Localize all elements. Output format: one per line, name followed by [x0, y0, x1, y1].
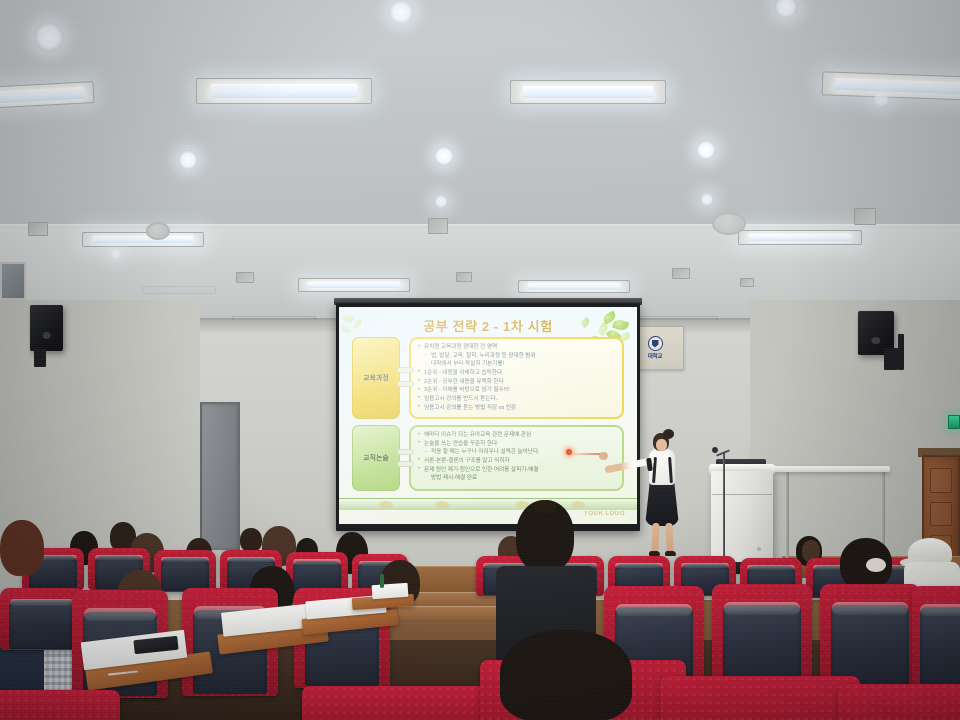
slide-footer-logo: YOUR LOGO — [584, 511, 625, 517]
speaker-bracket-right — [898, 334, 904, 370]
ceiling-downlight — [434, 146, 454, 166]
wall-speaker-left — [30, 305, 63, 351]
ceiling-light-troffer — [82, 232, 204, 247]
section-connector-icon — [400, 425, 409, 491]
seat-gloss — [293, 559, 340, 564]
ceiling-vent — [456, 272, 472, 282]
section-content-box: 해마다 이슈가 되는 유아교육 관련 문제에 관심 논술을 쓰는 연습을 꾸준히… — [409, 425, 624, 491]
ceiling-vent — [428, 218, 448, 234]
university-emblem-icon — [648, 336, 663, 351]
seat-gloss — [920, 604, 960, 616]
presenter-leg — [665, 523, 674, 553]
microphone-stand-pole — [723, 452, 725, 572]
slide-title: 공부 전략 2 - 1차 시험 — [339, 316, 637, 335]
ceiling-light-troffer — [142, 286, 216, 294]
podium-knob — [757, 547, 761, 551]
seat-gloss — [227, 557, 274, 562]
ceiling-light-troffer — [298, 278, 410, 292]
ceiling-upper — [0, 0, 960, 232]
ceiling-downlight — [388, 0, 414, 24]
seat-gloss — [10, 599, 74, 606]
presenter-shoe — [665, 551, 676, 556]
seat-gloss — [724, 602, 800, 615]
bullet-item: 법, 발달, 교육, 철학, 누리과정 등 광대한 범위 — [418, 352, 617, 361]
ceiling-downlight — [34, 22, 64, 52]
seat-gloss — [832, 602, 908, 615]
door-left[interactable] — [200, 402, 240, 550]
ceiling-downlight — [700, 193, 714, 206]
seat-gloss — [95, 555, 142, 560]
presenter-hair-bun — [663, 429, 674, 439]
ceiling-light-troffer — [510, 80, 666, 104]
ceiling-downlight — [696, 140, 716, 160]
paper-on-desk[interactable] — [372, 583, 409, 599]
ceiling-vent — [672, 268, 690, 279]
ceiling-light-troffer — [196, 78, 372, 104]
bullet-list: 유치원 교육과정 광대한 전 영역 법, 발달, 교육, 철학, 누리과정 등 … — [418, 343, 617, 412]
presenter-skirt — [645, 482, 679, 526]
section-tab-label: 교직논술 — [352, 425, 400, 491]
attendee-hair-tie — [866, 558, 886, 572]
presentation-slide: 공부 전략 2 - 1차 시험 교육과정 유치원 교육과정 광대한 전 영역 법… — [339, 307, 637, 524]
presenter-face — [656, 439, 667, 451]
attendee-head — [0, 520, 44, 576]
seat-gloss — [161, 557, 208, 562]
attendee-head — [500, 630, 632, 720]
attendee-head — [240, 528, 262, 552]
seat-backrest-panel — [920, 607, 960, 688]
exit-sign — [948, 415, 960, 429]
podium-panel-seam — [712, 494, 772, 495]
bullet-item: 대학에서 부터 착실히 기본기를! — [418, 360, 617, 369]
bullet-item: 논술을 쓰는 연습을 꾸준히 한다 — [418, 440, 617, 449]
auditorium-seat-cushion[interactable] — [660, 676, 860, 720]
slide-section-curriculum: 교육과정 유치원 교육과정 광대한 전 영역 법, 발달, 교육, 철학, 누리… — [352, 337, 624, 419]
seat-gloss — [747, 565, 794, 570]
grass-blob-decoration — [435, 501, 449, 508]
ceiling-downlight — [434, 195, 448, 208]
bullet-list: 해마다 이슈가 되는 유아교육 관련 문제에 관심 논술을 쓰는 연습을 꾸준히… — [418, 431, 617, 483]
seat-backrest-panel — [161, 558, 209, 591]
ceiling-vent — [28, 222, 48, 236]
attendee-hair-tie — [534, 500, 556, 514]
banner-label: 대학교 — [648, 352, 663, 360]
seat-backrest-panel — [9, 600, 75, 648]
grass-blob-decoration — [571, 501, 585, 508]
section-content-box: 유치원 교육과정 광대한 전 영역 법, 발달, 교육, 철학, 누리과정 등 … — [409, 337, 624, 419]
podium — [711, 471, 773, 568]
bullet-item: 1순위 - 내용을 이해하고 습득한다. — [418, 369, 617, 378]
bullet-item: 해마다 이슈가 되는 유아교육 관련 문제에 관심 — [418, 431, 617, 440]
side-table-leg — [786, 472, 789, 560]
lecture-hall-photo: 대학교 공부 전략 2 - 1차 시험 교육과정 — [0, 0, 960, 720]
auditorium-seat-cushion[interactable] — [838, 684, 960, 720]
bullet-item: 2순위 - 공부한 내용을 유목화 한다 — [418, 378, 617, 387]
auditorium-seat-cushion[interactable] — [0, 690, 120, 720]
ceiling-vent — [236, 272, 254, 283]
ceiling-light-troffer — [518, 280, 630, 293]
ceiling-downlight — [872, 90, 890, 107]
section-tab-label: 교육과정 — [352, 337, 400, 419]
auditorium-seat[interactable] — [912, 586, 960, 690]
side-table — [772, 466, 890, 472]
presenter — [630, 427, 702, 562]
pointer-hand-highlight — [566, 449, 572, 455]
ceiling-downlight — [110, 248, 122, 259]
seat-gloss — [615, 563, 662, 568]
grass-blob-decoration — [379, 501, 393, 508]
speaker-bracket-left — [34, 349, 46, 367]
auditorium-seat[interactable] — [154, 550, 216, 592]
ceiling-speaker — [146, 222, 170, 240]
ceiling-vent — [854, 208, 876, 225]
bullet-item: 임용고시 강의를 반드시 듣는다. — [418, 395, 617, 404]
presenter-hand — [599, 452, 608, 460]
bullet-item: 방법 제시-해결 완료 — [418, 474, 617, 483]
bullet-item: 문제 원인 제기-원인으로 인한 어려움 살피기-해결 — [418, 466, 617, 475]
ceiling-vent — [740, 278, 754, 287]
bullet-item: 임용고시 강의를 듣는 방법 직강 vs 인강 — [418, 404, 617, 413]
microphone-head-icon — [712, 447, 718, 453]
bullet-item: 유치원 교육과정 광대한 전 영역 — [418, 343, 617, 352]
ceiling-light-troffer — [738, 230, 862, 245]
wall-vent-upper-left — [0, 262, 26, 300]
bullet-item: 3순위 - 이해를 바탕으로 암기 필수!!!! — [418, 386, 617, 395]
speaker-bracket-right — [884, 348, 898, 370]
pen-on-desk[interactable] — [380, 574, 384, 588]
bullet-item: 서론-본론-결론의 구조를 알고 익히자 — [418, 457, 617, 466]
ceiling-speaker — [712, 212, 746, 235]
seat-gloss — [616, 604, 692, 616]
presenter-leg — [651, 523, 659, 553]
auditorium-seat[interactable] — [712, 584, 812, 690]
seat-gloss — [84, 608, 157, 621]
ceiling-downlight — [178, 150, 198, 170]
section-connector-icon — [400, 337, 409, 419]
slide-section-essay: 교직논술 해마다 이슈가 되는 유아교육 관련 문제에 관심 논술을 쓰는 연습… — [352, 425, 624, 491]
seat-gloss — [681, 563, 728, 568]
auditorium-seat[interactable] — [820, 584, 920, 690]
